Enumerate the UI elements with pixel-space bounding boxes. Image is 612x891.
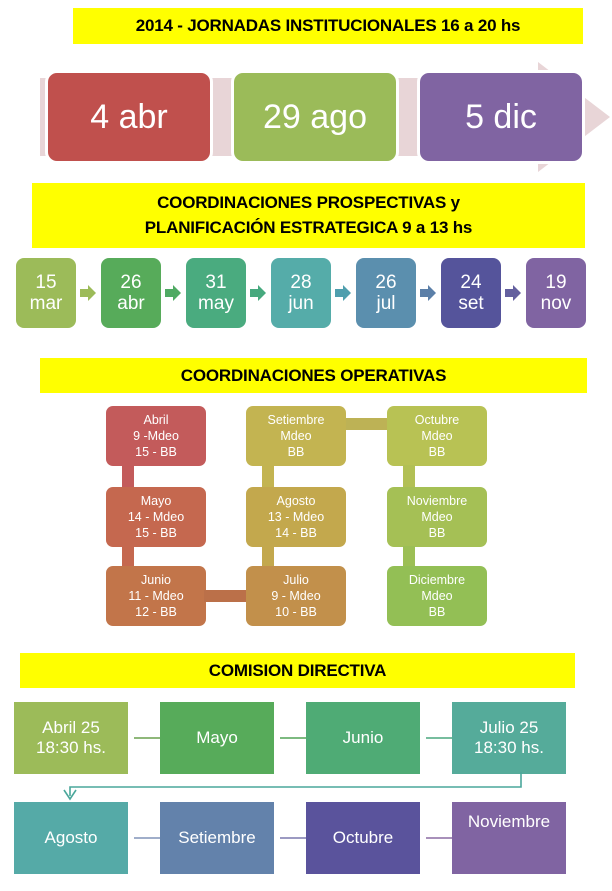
prospectiva-box-1-month: mar xyxy=(30,293,63,314)
operativa-box-octubre-line3: BB xyxy=(429,444,446,460)
prospectiva-arrow-5-icon xyxy=(420,285,436,301)
operativa-box-agosto-line3: 14 - BB xyxy=(275,525,317,541)
prospectiva-box-2[interactable]: 26 abr xyxy=(101,258,161,328)
operativa-box-diciembre-line2: Mdeo xyxy=(421,588,452,604)
jornada-card-3[interactable]: 5 dic xyxy=(417,70,585,164)
operativa-box-julio-line3: 10 - BB xyxy=(275,604,317,620)
operativa-connector-abril-mayo xyxy=(122,465,134,487)
operativa-box-diciembre[interactable]: Diciembre Mdeo BB xyxy=(387,566,487,626)
directiva-wrap-arrow-icon xyxy=(0,760,612,805)
prospectiva-box-3[interactable]: 31 may xyxy=(186,258,246,328)
infographic-canvas: 2014 - JORNADAS INSTITUCIONALES 16 a 20 … xyxy=(0,0,612,891)
prospectiva-box-7[interactable]: 19 nov xyxy=(526,258,586,328)
operativa-connector-setiembre-agosto xyxy=(262,465,274,487)
operativa-box-abril[interactable]: Abril 9 -Mdeo 15 - BB xyxy=(106,406,206,466)
operativa-box-noviembre-line2: Mdeo xyxy=(421,509,452,525)
banner-prospectivas-line2: PLANIFICACIÓN ESTRATEGICA 9 a 13 hs xyxy=(145,216,472,241)
directiva-box-abril-line2: 18:30 hs. xyxy=(36,738,106,758)
operativa-box-agosto-line1: Agosto xyxy=(277,493,316,509)
operativa-box-junio[interactable]: Junio 11 - Mdeo 12 - BB xyxy=(106,566,206,626)
prospectiva-box-4-day: 28 xyxy=(290,272,311,293)
operativa-box-setiembre-line1: Setiembre xyxy=(268,412,325,428)
prospectiva-box-6-month: set xyxy=(458,293,483,314)
directiva-box-noviembre-line1: Noviembre xyxy=(468,812,550,832)
directiva-box-agosto[interactable]: Agosto xyxy=(14,802,128,874)
operativa-box-agosto[interactable]: Agosto 13 - Mdeo 14 - BB xyxy=(246,487,346,547)
banner-prospectivas: COORDINACIONES PROSPECTIVAS y PLANIFICAC… xyxy=(32,183,585,248)
operativa-box-diciembre-line1: Diciembre xyxy=(409,572,465,588)
jornada-card-2-label: 29 ago xyxy=(263,100,367,134)
directiva-box-mayo-line1: Mayo xyxy=(196,728,238,748)
banner-operativas-line1: COORDINACIONES OPERATIVAS xyxy=(181,366,446,386)
operativa-box-octubre-line1: Octubre xyxy=(415,412,459,428)
prospectiva-box-2-day: 26 xyxy=(120,272,141,293)
directiva-box-julio-line1: Julio 25 xyxy=(480,718,539,738)
directiva-box-abril-line1: Abril 25 xyxy=(42,718,100,738)
directiva-box-octubre-line1: Octubre xyxy=(333,828,393,848)
jornada-card-1[interactable]: 4 abr xyxy=(45,70,213,164)
prospectiva-box-6-day: 24 xyxy=(460,272,481,293)
operativa-box-noviembre[interactable]: Noviembre Mdeo BB xyxy=(387,487,487,547)
prospectiva-box-2-month: abr xyxy=(117,293,144,314)
directiva-box-noviembre[interactable]: Noviembre xyxy=(452,802,566,874)
operativa-box-junio-line1: Junio xyxy=(141,572,171,588)
prospectiva-arrow-6-icon xyxy=(505,285,521,301)
operativa-box-mayo-line1: Mayo xyxy=(141,493,172,509)
jornadas-arrow-band: 4 abr 29 ago 5 dic xyxy=(40,62,612,172)
operativa-connector-setiembre-octubre xyxy=(346,418,392,430)
operativa-connector-junio-julio xyxy=(204,590,250,602)
operativa-connector-mayo-junio xyxy=(122,546,134,568)
operativa-box-abril-line2: 9 -Mdeo xyxy=(133,428,179,444)
operativa-box-setiembre-line2: Mdeo xyxy=(280,428,311,444)
operativa-box-mayo[interactable]: Mayo 14 - Mdeo 15 - BB xyxy=(106,487,206,547)
banner-directiva-line1: COMISION DIRECTIVA xyxy=(209,661,386,681)
prospectiva-arrow-3-icon xyxy=(250,285,266,301)
directiva-box-junio-line1: Junio xyxy=(343,728,384,748)
prospectiva-box-7-day: 19 xyxy=(545,272,566,293)
directiva-box-setiembre[interactable]: Setiembre xyxy=(160,802,274,874)
operativa-box-abril-line3: 15 - BB xyxy=(135,444,177,460)
prospectiva-box-7-month: nov xyxy=(541,293,572,314)
operativa-box-mayo-line3: 15 - BB xyxy=(135,525,177,541)
banner-jornadas-line1: 2014 - JORNADAS INSTITUCIONALES 16 a 20 … xyxy=(136,16,521,36)
prospectiva-arrow-1-icon xyxy=(80,285,96,301)
operativa-box-julio-line1: Julio xyxy=(283,572,309,588)
directiva-box-setiembre-line1: Setiembre xyxy=(178,828,255,848)
prospectiva-box-4-month: jun xyxy=(288,293,313,314)
operativa-connector-noviembre-diciembre xyxy=(403,546,415,568)
operativa-box-noviembre-line3: BB xyxy=(429,525,446,541)
banner-prospectivas-line1: COORDINACIONES PROSPECTIVAS y xyxy=(157,191,460,216)
operativa-connector-octubre-noviembre xyxy=(403,465,415,487)
banner-operativas: COORDINACIONES OPERATIVAS xyxy=(40,358,587,393)
operativa-box-mayo-line2: 14 - Mdeo xyxy=(128,509,184,525)
operativa-box-agosto-line2: 13 - Mdeo xyxy=(268,509,324,525)
operativa-box-octubre[interactable]: Octubre Mdeo BB xyxy=(387,406,487,466)
directiva-box-julio-line2: 18:30 hs. xyxy=(474,738,544,758)
operativa-box-junio-line2: 11 - Mdeo xyxy=(128,588,183,604)
jornada-card-2[interactable]: 29 ago xyxy=(231,70,399,164)
operativa-box-julio[interactable]: Julio 9 - Mdeo 10 - BB xyxy=(246,566,346,626)
jornada-card-3-label: 5 dic xyxy=(465,100,537,134)
prospectiva-box-5[interactable]: 26 jul xyxy=(356,258,416,328)
operativa-box-setiembre[interactable]: Setiembre Mdeo BB xyxy=(246,406,346,466)
operativa-box-octubre-line2: Mdeo xyxy=(421,428,452,444)
directiva-box-agosto-line1: Agosto xyxy=(45,828,98,848)
operativa-box-julio-line2: 9 - Mdeo xyxy=(271,588,320,604)
directiva-box-octubre[interactable]: Octubre xyxy=(306,802,420,874)
operativa-box-setiembre-line3: BB xyxy=(288,444,305,460)
banner-jornadas: 2014 - JORNADAS INSTITUCIONALES 16 a 20 … xyxy=(73,8,583,44)
prospectiva-box-5-month: jul xyxy=(376,293,395,314)
operativa-box-diciembre-line3: BB xyxy=(429,604,446,620)
operativa-box-junio-line3: 12 - BB xyxy=(135,604,177,620)
prospectiva-box-3-month: may xyxy=(198,293,234,314)
banner-directiva: COMISION DIRECTIVA xyxy=(20,653,575,688)
prospectiva-box-5-day: 26 xyxy=(375,272,396,293)
operativa-connector-agosto-julio xyxy=(262,546,274,568)
prospectiva-box-1[interactable]: 15 mar xyxy=(16,258,76,328)
prospectiva-box-1-day: 15 xyxy=(35,272,56,293)
operativa-box-noviembre-line1: Noviembre xyxy=(407,493,467,509)
jornada-card-1-label: 4 abr xyxy=(90,100,168,134)
prospectiva-arrow-2-icon xyxy=(165,285,181,301)
prospectiva-box-3-day: 31 xyxy=(205,272,226,293)
operativa-box-abril-line1: Abril xyxy=(143,412,168,428)
prospectiva-box-6[interactable]: 24 set xyxy=(441,258,501,328)
prospectiva-arrow-4-icon xyxy=(335,285,351,301)
prospectiva-box-4[interactable]: 28 jun xyxy=(271,258,331,328)
